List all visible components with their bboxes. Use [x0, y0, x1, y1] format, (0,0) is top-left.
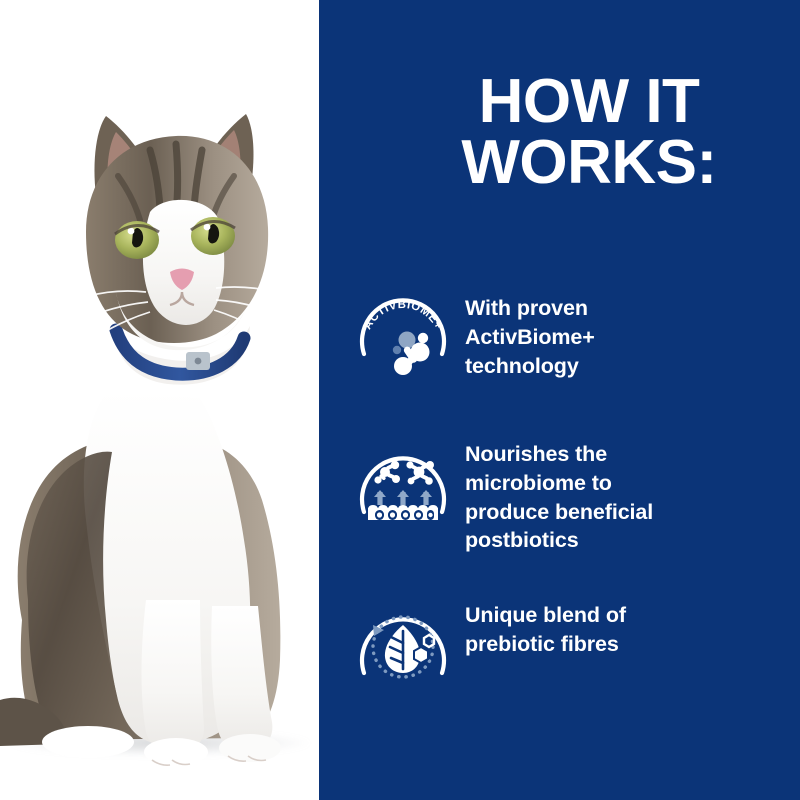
feature-text-prebiotic: Unique blend of prebiotic fibres [455, 595, 799, 659]
svg-text:ACTIVBIOME+: ACTIVBIOME+ [362, 299, 445, 332]
feature-text-activbiome: With proven ActivBiome+ technology [455, 288, 799, 380]
feature-item-microbiome: Nourishes the microbiome to produce bene… [351, 434, 799, 555]
feature-item-activbiome: ACTIVBIOME+ With proven ActivBiome+ tech… [351, 288, 799, 392]
product-benefit-poster: HOW IT WORKS: ACTIVBIOME+ [0, 0, 800, 800]
cat-photo [0, 0, 319, 800]
feature-list: ACTIVBIOME+ With proven ActivBiome+ tech… [351, 288, 799, 699]
feature-text-microbiome: Nourishes the microbiome to produce bene… [455, 434, 799, 555]
cat-photo-panel [0, 0, 319, 800]
page-title: HOW IT WORKS: [379, 72, 799, 194]
info-panel: HOW IT WORKS: ACTIVBIOME+ [319, 0, 800, 800]
activbiome-badge-icon: ACTIVBIOME+ [351, 288, 455, 392]
cat-head [50, 114, 312, 354]
microbiome-gut-icon [351, 434, 455, 538]
prebiotic-fibre-leaf-icon [351, 595, 455, 699]
feature-item-prebiotic: Unique blend of prebiotic fibres [351, 595, 799, 699]
